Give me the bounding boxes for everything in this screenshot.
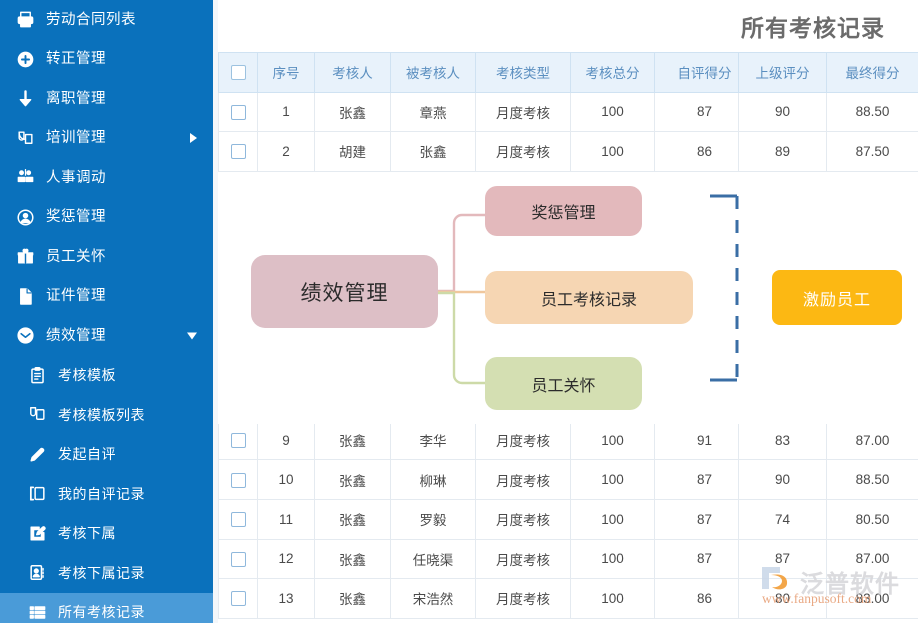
mail-icon: [16, 326, 35, 345]
col-header-total[interactable]: 考核总分: [571, 53, 655, 93]
clipboard-icon: [28, 366, 47, 385]
col-header-reviewer[interactable]: 考核人: [315, 53, 391, 93]
records-table-top: 序号 考核人 被考核人 考核类型 考核总分 自评得分 上级评分 最终得分 1张鑫…: [218, 52, 918, 172]
chevron-right-icon[interactable]: [190, 133, 197, 143]
cell-reviewee: 章燕: [391, 92, 476, 132]
page-title: 所有考核记录: [741, 9, 885, 43]
training-icon: [16, 129, 35, 148]
cell-type: 月度考核: [476, 420, 571, 460]
cell-type: 月度考核: [476, 132, 571, 172]
sidebar-item-label: 考核下属记录: [58, 566, 145, 580]
sidebar-item-label: 转正管理: [46, 52, 106, 67]
row-checkbox[interactable]: [231, 473, 246, 488]
cell-total: 100: [571, 579, 655, 619]
cell-leader: 90: [739, 92, 827, 132]
table-row[interactable]: 13张鑫宋浩然月度考核100868083.00: [219, 579, 918, 619]
sidebar-item-4[interactable]: 培训管理: [0, 119, 213, 159]
cell-reviewee: 柳琳: [391, 460, 476, 500]
cell-total: 100: [571, 499, 655, 539]
sidebar-item-label: 我的自评记录: [58, 487, 145, 501]
diagram-node-reward-management[interactable]: 奖惩管理: [485, 186, 642, 236]
row-checkbox[interactable]: [231, 433, 246, 448]
cell-leader: 90: [739, 460, 827, 500]
diagram-node-root[interactable]: 绩效管理: [251, 255, 438, 328]
col-header-final[interactable]: 最终得分: [827, 53, 918, 93]
cell-reviewer: 张鑫: [315, 420, 391, 460]
table-row[interactable]: 2胡建张鑫月度考核100868987.50: [219, 132, 918, 172]
row-select-cell[interactable]: [219, 92, 258, 132]
sidebar-item-label: 所有考核记录: [58, 605, 145, 619]
sidebar-item-9[interactable]: 绩效管理: [0, 316, 213, 356]
cell-reviewer: 张鑫: [315, 539, 391, 579]
sidebar-item-2[interactable]: 转正管理: [0, 40, 213, 80]
cell-reviewee: 宋浩然: [391, 579, 476, 619]
row-select-cell[interactable]: [219, 579, 258, 619]
cell-type: 月度考核: [476, 579, 571, 619]
table-body-top: 1张鑫章燕月度考核100879088.502胡建张鑫月度考核100868987.…: [219, 92, 918, 171]
cell-no: 12: [258, 539, 315, 579]
cell-leader: 74: [739, 499, 827, 539]
cell-final: 80.50: [827, 499, 918, 539]
col-header-type[interactable]: 考核类型: [476, 53, 571, 93]
cell-leader: 80: [739, 579, 827, 619]
table-row[interactable]: 10张鑫柳琳月度考核100879088.50: [219, 460, 918, 500]
sidebar-item-label: 培训管理: [46, 131, 106, 146]
sidebar-item-7[interactable]: 员工关怀: [0, 237, 213, 277]
cell-no: 1: [258, 92, 315, 132]
row-checkbox[interactable]: [231, 512, 246, 527]
cell-self: 87: [655, 539, 739, 579]
gift-icon: [16, 247, 35, 266]
cell-final: 83.00: [827, 579, 918, 619]
cell-total: 100: [571, 539, 655, 579]
cell-no: 9: [258, 420, 315, 460]
contact-card-icon: [28, 563, 47, 582]
title-bar: 所有考核记录: [218, 0, 918, 52]
chevron-down-icon[interactable]: [187, 332, 197, 339]
motivate-employees-button[interactable]: 激励员工: [772, 270, 902, 325]
cell-final: 87.00: [827, 539, 918, 579]
sidebar-item-3[interactable]: 离职管理: [0, 79, 213, 119]
row-select-cell[interactable]: [219, 499, 258, 539]
cell-no: 13: [258, 579, 315, 619]
row-select-cell[interactable]: [219, 460, 258, 500]
select-all-checkbox[interactable]: [231, 65, 246, 80]
plus-circle-icon: [16, 50, 35, 69]
row-select-cell[interactable]: [219, 420, 258, 460]
cell-self: 91: [655, 420, 739, 460]
cell-leader: 87: [739, 539, 827, 579]
table-header: 序号 考核人 被考核人 考核类型 考核总分 自评得分 上级评分 最终得分: [219, 53, 918, 93]
col-header-reviewee[interactable]: 被考核人: [391, 53, 476, 93]
cell-total: 100: [571, 420, 655, 460]
cell-reviewer: 张鑫: [315, 460, 391, 500]
sidebar-item-14[interactable]: 考核下属: [0, 514, 213, 554]
table-row[interactable]: 12张鑫任晓渠月度考核100878787.00: [219, 539, 918, 579]
sidebar-item-label: 证件管理: [46, 289, 106, 304]
sidebar-item-11[interactable]: 考核模板列表: [0, 395, 213, 435]
col-header-leader[interactable]: 上级评分: [739, 53, 827, 93]
cell-reviewer: 张鑫: [315, 499, 391, 539]
col-header-self[interactable]: 自评得分: [655, 53, 739, 93]
cell-reviewer: 胡建: [315, 132, 391, 172]
sidebar-item-label: 考核模板列表: [58, 408, 145, 422]
cell-type: 月度考核: [476, 499, 571, 539]
cell-total: 100: [571, 460, 655, 500]
sidebar-item-12[interactable]: 发起自评: [0, 435, 213, 475]
sidebar-item-label: 绩效管理: [46, 329, 106, 344]
sidebar-item-label: 考核模板: [58, 368, 116, 382]
cell-self: 87: [655, 92, 739, 132]
sidebar-item-15[interactable]: 考核下属记录: [0, 553, 213, 593]
sidebar-item-label: 离职管理: [46, 92, 106, 107]
row-checkbox[interactable]: [231, 144, 246, 159]
col-header-no[interactable]: 序号: [258, 53, 315, 93]
records-table-bottom: 9张鑫李华月度考核100918387.0010张鑫柳琳月度考核100879088…: [218, 420, 918, 619]
edit-square-icon: [28, 524, 47, 543]
sidebar-item-13[interactable]: 我的自评记录: [0, 474, 213, 514]
table-row[interactable]: 9张鑫李华月度考核100918387.00: [219, 420, 918, 460]
sidebar-item-10[interactable]: 考核模板: [0, 356, 213, 396]
table-row[interactable]: 1张鑫章燕月度考核100879088.50: [219, 92, 918, 132]
diagram-node-employee-assessment-records[interactable]: 员工考核记录: [485, 271, 693, 324]
cell-leader: 83: [739, 420, 827, 460]
diagram-node-employee-care[interactable]: 员工关怀: [485, 357, 642, 410]
cell-no: 10: [258, 460, 315, 500]
copy-icon: [28, 405, 47, 424]
cell-final: 87.00: [827, 420, 918, 460]
app-root: 劳动合同列表转正管理离职管理培训管理人事调动奖惩管理员工关怀证件管理绩效管理考核…: [0, 0, 918, 623]
cell-final: 88.50: [827, 92, 918, 132]
document-icon: [16, 287, 35, 306]
cell-type: 月度考核: [476, 92, 571, 132]
sidebar-item-16[interactable]: 所有考核记录: [0, 593, 213, 623]
cell-self: 86: [655, 579, 739, 619]
pencil-icon: [28, 445, 47, 464]
sidebar-item-label: 奖惩管理: [46, 210, 106, 225]
row-select-cell[interactable]: [219, 539, 258, 579]
row-checkbox[interactable]: [231, 591, 246, 606]
sidebar-item-8[interactable]: 证件管理: [0, 277, 213, 317]
table-header-row: 序号 考核人 被考核人 考核类型 考核总分 自评得分 上级评分 最终得分: [219, 53, 918, 93]
cell-reviewer: 张鑫: [315, 92, 391, 132]
cell-leader: 89: [739, 132, 827, 172]
list-icon: [28, 603, 47, 622]
cell-reviewee: 任晓渠: [391, 539, 476, 579]
sidebar-item-label: 人事调动: [46, 171, 106, 186]
cell-type: 月度考核: [476, 539, 571, 579]
cell-self: 87: [655, 499, 739, 539]
cell-no: 11: [258, 499, 315, 539]
cell-final: 87.50: [827, 132, 918, 172]
select-all-cell[interactable]: [219, 53, 258, 93]
performance-mindmap-diagram: 绩效管理 奖惩管理 员工考核记录 员工关怀 激励员工: [218, 176, 918, 424]
printer-icon: [16, 10, 35, 29]
cell-total: 100: [571, 92, 655, 132]
arrow-down-icon: [16, 89, 35, 108]
cell-reviewee: 张鑫: [391, 132, 476, 172]
cell-reviewee: 李华: [391, 420, 476, 460]
row-select-cell[interactable]: [219, 132, 258, 172]
row-checkbox[interactable]: [231, 552, 246, 567]
duplicate-icon: [28, 484, 47, 503]
table-row[interactable]: 11张鑫罗毅月度考核100877480.50: [219, 499, 918, 539]
sidebar-item-6[interactable]: 奖惩管理: [0, 198, 213, 238]
sidebar-item-1[interactable]: 劳动合同列表: [0, 0, 213, 40]
user-circle-icon: [16, 208, 35, 227]
table-body-bottom: 9张鑫李华月度考核100918387.0010张鑫柳琳月度考核100879088…: [219, 420, 918, 618]
cell-type: 月度考核: [476, 460, 571, 500]
cell-self: 86: [655, 132, 739, 172]
cell-reviewer: 张鑫: [315, 579, 391, 619]
cell-self: 87: [655, 460, 739, 500]
cell-total: 100: [571, 132, 655, 172]
sidebar-item-label: 考核下属: [58, 526, 116, 540]
sidebar-item-label: 发起自评: [58, 447, 116, 461]
people-icon: [16, 168, 35, 187]
sidebar-item-label: 员工关怀: [46, 250, 106, 265]
sidebar-item-label: 劳动合同列表: [46, 13, 136, 28]
row-checkbox[interactable]: [231, 105, 246, 120]
cell-no: 2: [258, 132, 315, 172]
sidebar-item-5[interactable]: 人事调动: [0, 158, 213, 198]
cell-reviewee: 罗毅: [391, 499, 476, 539]
sidebar-nav[interactable]: 劳动合同列表转正管理离职管理培训管理人事调动奖惩管理员工关怀证件管理绩效管理考核…: [0, 0, 213, 623]
cell-final: 88.50: [827, 460, 918, 500]
